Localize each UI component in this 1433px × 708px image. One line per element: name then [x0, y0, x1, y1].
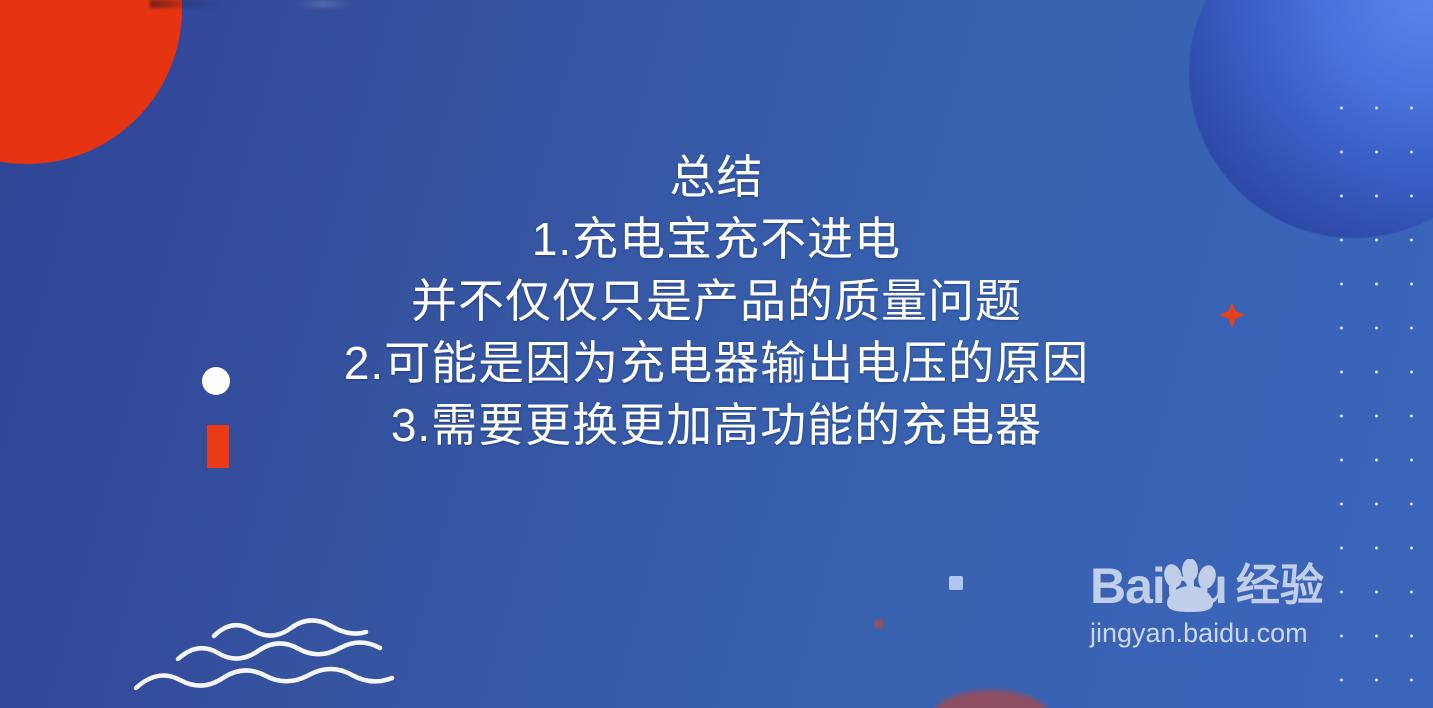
summary-point-2: 2.可能是因为充电器输出电压的原因	[0, 332, 1433, 394]
wave-lines-icon	[128, 612, 418, 708]
summary-point-1-continued: 并不仅仅只是产品的质量问题	[0, 270, 1433, 332]
orange-corner-circle-icon	[0, 0, 182, 164]
light-blue-square-icon	[949, 576, 963, 590]
summary-point-1: 1.充电宝充不进电	[0, 208, 1433, 270]
bottom-red-arc-icon	[930, 690, 1052, 708]
baidu-watermark-url: jingyan.baidu.com	[1090, 618, 1380, 649]
slide-canvas: 总结 1.充电宝充不进电 并不仅仅只是产品的质量问题 2.可能是因为充电器输出电…	[0, 0, 1433, 708]
summary-text-block: 总结 1.充电宝充不进电 并不仅仅只是产品的质量问题 2.可能是因为充电器输出电…	[0, 146, 1433, 456]
top-edge-smudge	[150, 0, 390, 8]
baidu-brand-du: du	[1167, 561, 1228, 611]
baidu-logo: Bai du 经验	[1090, 558, 1380, 614]
faint-red-dot-icon	[874, 619, 884, 629]
baidu-brand-jingyan: 经验	[1236, 563, 1324, 609]
baidu-jingyan-watermark: Bai du 经验 jingyan.baidu.com	[1090, 558, 1380, 649]
baidu-brand-bai: Bai	[1090, 561, 1165, 611]
summary-point-3: 3.需要更换更加高功能的充电器	[0, 394, 1433, 456]
summary-heading: 总结	[0, 146, 1433, 208]
